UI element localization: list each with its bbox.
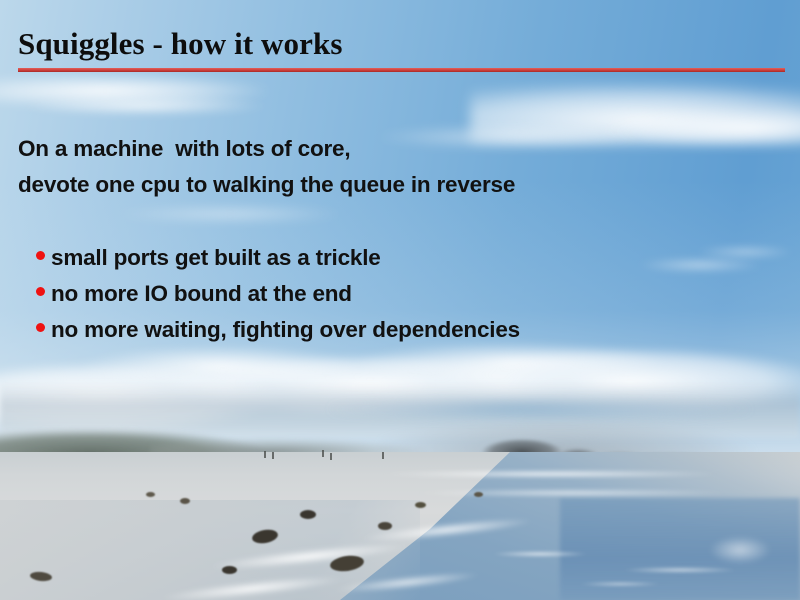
bullet-list: small ports get built as a trickle no mo… [36, 240, 756, 348]
bullet-item: no more waiting, fighting over dependenc… [36, 312, 756, 348]
bullet-dot-icon [36, 323, 45, 332]
bullet-dot-icon [36, 287, 45, 296]
wave-spray [700, 520, 800, 580]
seaweed-clump [415, 502, 426, 508]
seaweed-clump [378, 522, 392, 530]
bullet-dot-icon [36, 251, 45, 260]
distant-people [260, 448, 400, 462]
seaweed-clump [300, 510, 316, 519]
bullet-label: no more waiting, fighting over dependenc… [51, 312, 520, 348]
body-line-1: On a machine with lots of core, [18, 131, 738, 167]
title-underline-rule [18, 68, 785, 72]
cloud-wisp-left [20, 96, 270, 116]
slide-body: On a machine with lots of core, devote o… [18, 131, 738, 203]
presentation-slide: Squiggles - how it works On a machine wi… [0, 0, 800, 600]
body-line-2: devote one cpu to walking the queue in r… [18, 167, 738, 203]
seaweed-clump [146, 492, 155, 497]
seaweed-clump [222, 566, 237, 574]
seaweed-clump [180, 498, 190, 504]
slide-title: Squiggles - how it works [18, 26, 343, 62]
surf-line-far [370, 466, 800, 482]
seaweed-clump [474, 492, 483, 497]
bullet-label: small ports get built as a trickle [51, 240, 381, 276]
bullet-item: small ports get built as a trickle [36, 240, 756, 276]
bullet-label: no more IO bound at the end [51, 276, 352, 312]
bullet-item: no more IO bound at the end [36, 276, 756, 312]
cloud-wisp-mid-left [120, 205, 340, 223]
